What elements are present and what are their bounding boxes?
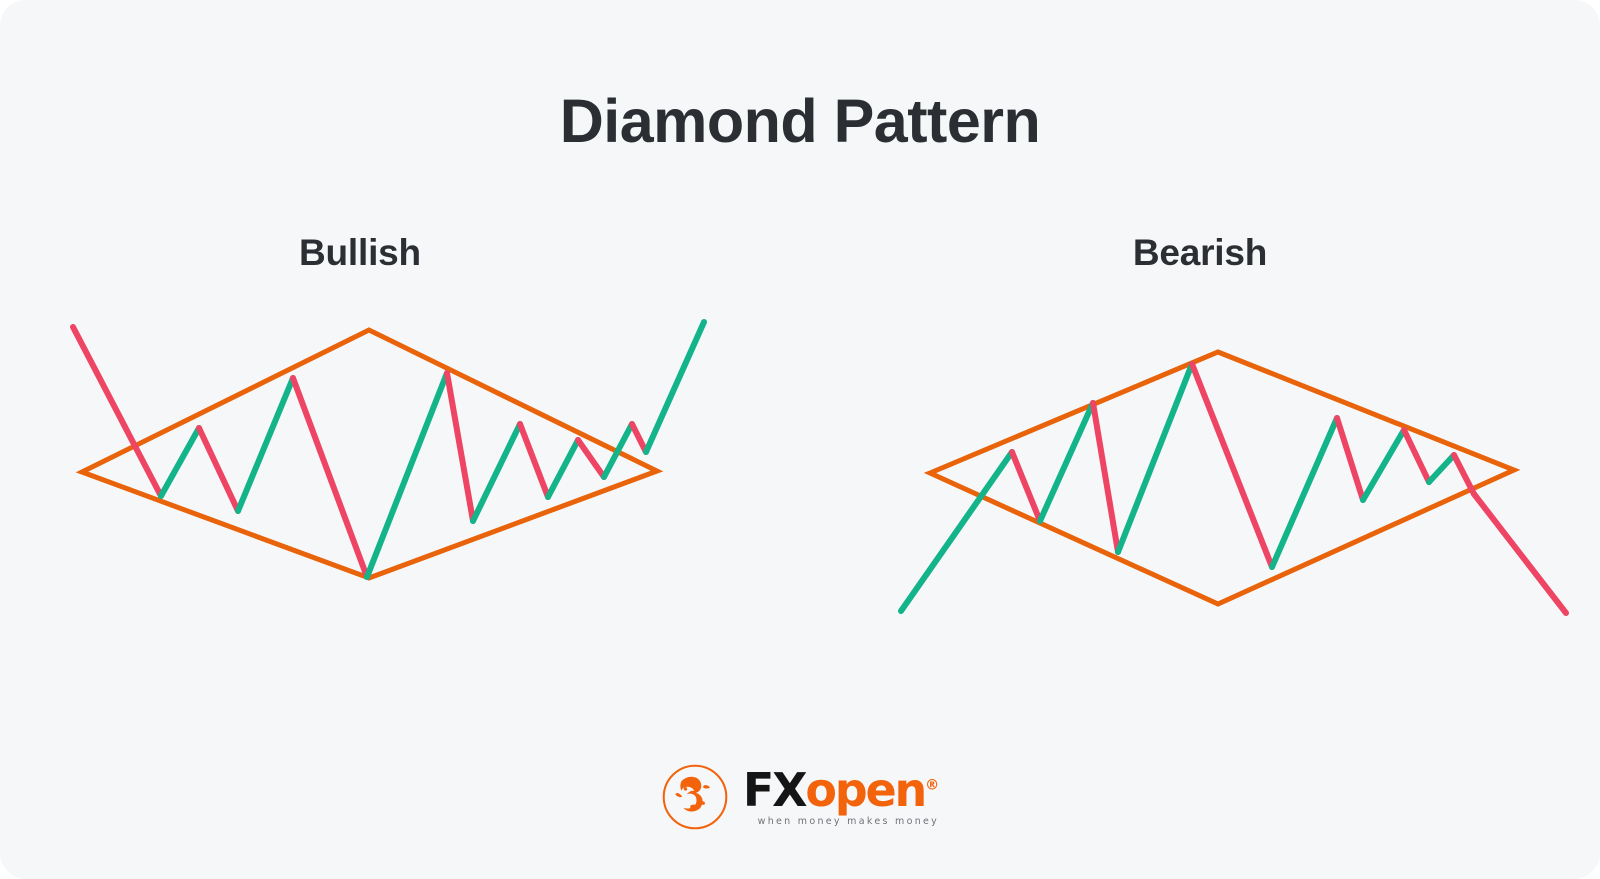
price-leg-down [447,373,473,521]
fxopen-wordmark: FXopen® [743,767,939,813]
fxopen-wordmark-wrap: FXopen® when money makes money [743,763,939,831]
price-leg-down [520,424,548,497]
price-leg-up [1363,430,1404,500]
price-leg-up [1272,418,1337,567]
registered-trademark-icon: ® [925,778,939,794]
diamond-pattern-infographic: Diamond Pattern Bullish Bearish [0,0,1600,879]
price-leg-up [1118,364,1192,552]
logo-word-open: open [805,763,925,817]
price-leg-up [161,428,199,496]
price-leg-up [548,440,578,497]
price-leg-up [1040,403,1093,521]
logo-tagline: when money makes money [743,816,939,827]
chart-bearish [901,352,1566,613]
price-leg-up [367,373,447,577]
fxopen-bull-icon [661,763,729,831]
price-leg-down [632,424,646,452]
diamond-pattern-chart [0,0,1600,879]
price-leg-up [1429,455,1454,482]
price-leg-up [646,322,704,452]
price-leg-up [473,424,520,521]
price-leg-down [1337,418,1363,500]
price-leg-down [1093,403,1118,552]
price-leg-down [1454,455,1474,494]
chart-bullish [73,322,704,578]
logo-word-fx: FX [743,763,806,817]
price-leg-down [199,428,238,511]
price-leg-up [238,378,293,511]
price-leg-down [293,378,367,577]
price-leg-up [604,424,632,477]
price-leg-down [1192,364,1272,567]
fxopen-logo[interactable]: FXopen® when money makes money [0,752,1600,842]
price-leg-up [901,452,1012,611]
price-leg-down [1474,494,1566,613]
price-leg-down [1404,430,1429,482]
price-path-bearish [901,364,1566,613]
